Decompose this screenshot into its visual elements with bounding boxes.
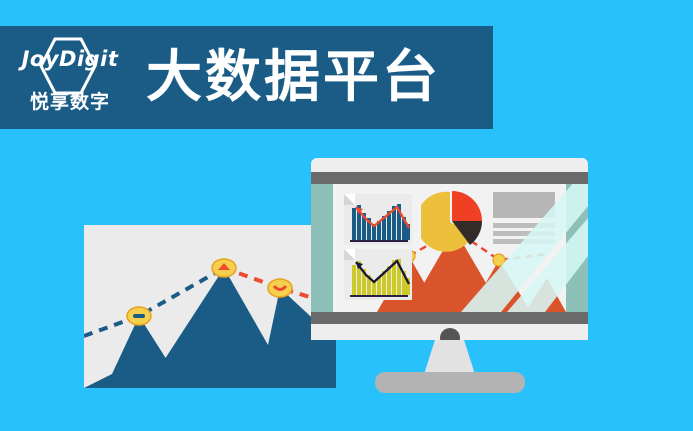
desktop-monitor: [311, 158, 588, 393]
blue-card-axis: [350, 240, 408, 242]
header-banner: JoyDigit 悦享数字 大数据平台: [0, 26, 493, 129]
brand-wordmark: JoyDigit: [14, 47, 126, 71]
monitor-screen: [311, 184, 588, 312]
screen-left-edge: [311, 184, 333, 312]
pie-chart: [421, 190, 483, 252]
monitor-bottom-bar: [311, 312, 588, 324]
bar-chart-olive-svg: [344, 249, 412, 300]
dashboard-viewport: [333, 184, 566, 312]
mountain-area-series: [84, 268, 336, 388]
mountain-line-chart-card: [84, 225, 336, 388]
brand-subtitle: 悦享数字: [14, 87, 126, 114]
brand-logo: JoyDigit 悦享数字: [14, 35, 126, 121]
pie-slice-segment-b: [452, 191, 482, 221]
text-line-1: [493, 223, 555, 228]
monitor-stand-neck: [424, 340, 476, 376]
monitor-top-bar: [311, 172, 588, 184]
image-placeholder-block: [493, 192, 555, 218]
bar-chart-blue-svg: [344, 194, 412, 245]
bar-chart-card-olive: [344, 249, 412, 300]
page-title: 大数据平台: [146, 50, 441, 106]
poster-canvas: JoyDigit 悦享数字 大数据平台: [0, 0, 693, 431]
bar-chart-card-blue: [344, 194, 412, 245]
screen-right-edge: [566, 184, 588, 312]
olive-card-axis: [350, 295, 408, 297]
monitor-stand-base: [375, 372, 525, 393]
mountain-line-chart-svg: [84, 225, 336, 388]
text-block-widget: [493, 192, 555, 244]
text-line-3: [493, 239, 555, 244]
text-line-2: [493, 231, 555, 236]
